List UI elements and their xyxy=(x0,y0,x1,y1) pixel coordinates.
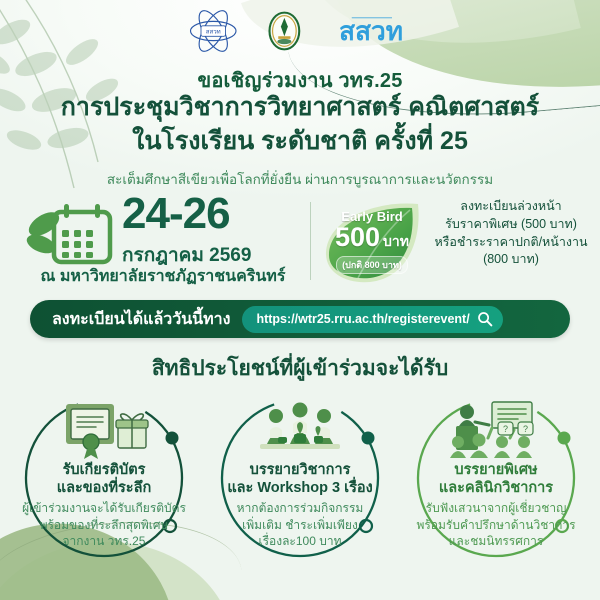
invite-line: ขอเชิญร่วมงาน วทร.25 xyxy=(0,64,600,96)
card-3-body: รับฟังเสวนาจากผู้เชี่ยวชาญ พร้อมรับคำปรึ… xyxy=(394,500,598,550)
early-bird-text-group: Early Bird 500 บาท (ปกติ 800 บาท) xyxy=(318,198,426,286)
card-3-body-line-2: พร้อมรับคำปรึกษาด้านวิชาการ xyxy=(394,517,598,534)
page-title-1: การประชุมวิชาการวิทยาศาสตร์ คณิตศาสตร์ xyxy=(0,93,600,123)
poster-canvas: สสวท สสวท ขอเชิญร่วมงาน วทร.25 การประชุม… xyxy=(0,0,600,600)
card-3-title: บรรยายพิเศษ และคลินิกวิชาการ xyxy=(398,462,594,498)
card-1-title-line-1: รับเกียรติบัตร xyxy=(6,462,202,480)
page-title-2: ในโรงเรียน ระดับชาติ ครั้งที่ 25 xyxy=(0,127,600,157)
vertical-divider xyxy=(310,202,311,280)
card-2-body-line-1: หากต้องการร่วมกิจกรรม xyxy=(198,500,402,517)
date-block: 24-26 กรกฎาคม 2569 ณ มหาวิทยาลัยราชภัฏรา… xyxy=(18,196,308,288)
logo-row: สสวท สสวท xyxy=(0,8,600,54)
lecture-clinic-icon: ? ? xyxy=(446,400,546,462)
register-url-pill[interactable]: https://wtr25.rru.ac.th/registerevent/ xyxy=(242,306,502,333)
benefit-cards: รับเกียรติบัตร และของที่ระลึก ผู้เข้าร่ว… xyxy=(0,388,600,600)
early-bird-currency: บาท xyxy=(383,231,409,253)
ipst-text-logo: สสวท xyxy=(329,10,413,52)
card-3-body-line-1: รับฟังเสวนาจากผู้เชี่ยวชาญ xyxy=(394,500,598,517)
pricing-line-2: รับราคาพิเศษ (500 บาท) xyxy=(428,216,594,234)
card-3-title-line-2: และคลินิกวิชาการ xyxy=(398,480,594,498)
benefit-card-certificate[interactable]: รับเกียรติบัตร และของที่ระลึก ผู้เข้าร่ว… xyxy=(6,388,202,600)
event-dates: 24-26 xyxy=(122,192,230,236)
card-1-title: รับเกียรติบัตร และของที่ระลึก xyxy=(6,462,202,498)
early-bird-normal-note: (ปกติ 800 บาท) xyxy=(336,256,408,274)
workshop-planting-icon xyxy=(250,400,350,462)
register-label: ลงทะเบียนได้แล้ววันนี้ทาง xyxy=(52,307,230,332)
card-1-title-line-2: และของที่ระลึก xyxy=(6,480,202,498)
card-1-body-line-2: พร้อมของที่ระลึกสุดพิเศษ xyxy=(2,517,206,534)
card-3-title-line-1: บรรยายพิเศษ xyxy=(398,462,594,480)
card-1-body-line-3: จากงาน วทร.25 xyxy=(2,533,206,550)
pricing-line-3: หรือชำระราคาปกติ/หน้างาน xyxy=(428,234,594,252)
event-venue: ณ มหาวิทยาลัยราชภัฏราชนครินทร์ xyxy=(18,264,308,289)
card-2-body-line-3: เรื่องละ100 บาท xyxy=(198,533,402,550)
svg-text:?: ? xyxy=(503,424,508,434)
benefits-heading: สิทธิประโยชน์ที่ผู้เข้าร่วมจะได้รับ xyxy=(0,352,600,385)
card-3-body-line-3: และชมนิทรรศการ xyxy=(394,533,598,550)
calendar-icon xyxy=(24,200,120,270)
card-2-title-line-1: บรรยายวิชาการ xyxy=(202,462,398,480)
atom-science-logo: สสวท xyxy=(187,10,240,52)
card-1-body-line-1: ผู้เข้าร่วมงานจะได้รับเกียรติบัตร xyxy=(2,500,206,517)
search-icon[interactable] xyxy=(477,311,493,327)
pricing-line-1: ลงทะเบียนล่วงหน้า xyxy=(428,198,594,216)
card-2-body: หากต้องการร่วมกิจกรรม เพิ่มเติม ชำระเพิ่… xyxy=(198,500,402,550)
svg-text:?: ? xyxy=(523,424,528,434)
benefit-card-lecture[interactable]: ? ? บรรยายพิเศษ และคลินิกวิชาการ รับฟังเ… xyxy=(398,388,594,600)
early-bird-price: 500 xyxy=(335,224,380,251)
tagline: สะเต็มศึกษาสีเขียวเพื่อโลกที่ยั่งยืน ผ่า… xyxy=(0,168,600,190)
benefit-card-workshop[interactable]: บรรยายวิชาการ และ Workshop 3 เรื่อง หากต… xyxy=(202,388,398,600)
certificate-gift-icon xyxy=(54,400,154,462)
register-bar[interactable]: ลงทะเบียนได้แล้ววันนี้ทาง https://wtr25.… xyxy=(30,300,570,338)
register-url[interactable]: https://wtr25.rru.ac.th/registerevent/ xyxy=(256,312,469,326)
pricing-note: ลงทะเบียนล่วงหน้า รับราคาพิเศษ (500 บาท)… xyxy=(428,198,594,269)
pricing-line-4: (800 บาท) xyxy=(428,251,594,269)
card-2-title-line-2: และ Workshop 3 เรื่อง xyxy=(202,480,398,498)
card-2-body-line-2: เพิ่มเติม ชำระเพิ่มเพียง xyxy=(198,517,402,534)
card-2-title: บรรยายวิชาการ และ Workshop 3 เรื่อง xyxy=(202,462,398,498)
event-info-strip: 24-26 กรกฎาคม 2569 ณ มหาวิทยาลัยราชภัฏรา… xyxy=(0,196,600,288)
card-1-body: ผู้เข้าร่วมงานจะได้รับเกียรติบัตร พร้อมข… xyxy=(2,500,206,550)
university-seal-logo xyxy=(266,10,303,52)
svg-text:สสวท: สสวท xyxy=(206,29,221,36)
svg-text:สสวท: สสวท xyxy=(339,16,403,46)
